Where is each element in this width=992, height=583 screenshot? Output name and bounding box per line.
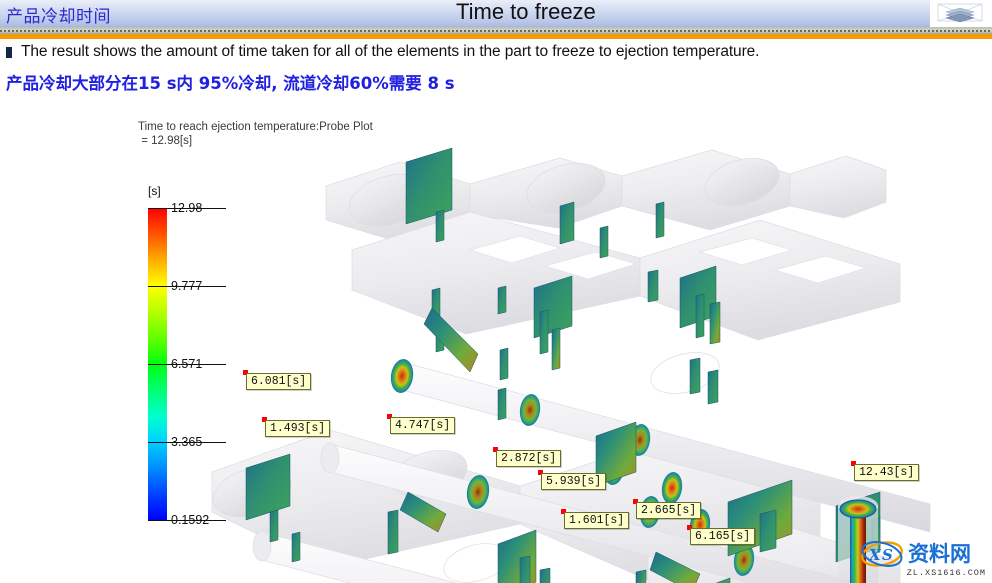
probe-label: 12.43[s]: [854, 464, 919, 481]
probe-label: 6.165[s]: [690, 528, 755, 545]
xs-logo-icon: X S: [860, 541, 904, 567]
watermark-text-cn: 资料网: [908, 543, 971, 565]
colorbar-ticks: 12.98 9.777 6.571 3.365 0.1592: [148, 200, 238, 530]
svg-text:X: X: [868, 546, 882, 564]
subtitle-cn: 产品冷却大部分在15 s内 95%冷却, 流道冷却60%需要 8 s: [6, 70, 455, 94]
probe-label: 2.665[s]: [636, 502, 701, 519]
probe-label: 4.747[s]: [390, 417, 455, 434]
bullet-marker-icon: [6, 47, 12, 58]
colorbar-tick-label: 9.777: [171, 279, 202, 293]
colorbar-unit-label: [s]: [148, 184, 161, 198]
probe-label: 2.872[s]: [496, 450, 561, 467]
watermark: X S 资料网 ZL.XS1616.COM: [860, 541, 986, 579]
header-dotted-rule: [0, 30, 992, 32]
layers-cube-logo-icon: [930, 0, 992, 27]
colorbar-tick-label: 0.1592: [171, 513, 209, 527]
bullet-row: The result shows the amount of time take…: [6, 40, 976, 64]
plot-title-line2: = 12.98[s]: [138, 135, 192, 147]
svg-text:S: S: [882, 546, 893, 564]
probe-label: 5.939[s]: [541, 473, 606, 490]
page-title-en: Time to freeze: [456, 0, 596, 25]
bullet-text: The result shows the amount of time take…: [21, 43, 759, 61]
probe-label: 1.601[s]: [564, 512, 629, 529]
colorbar-tick-label: 12.98: [171, 201, 202, 215]
slide-header: 产品冷却时间 Time to freeze: [0, 0, 992, 27]
colorbar-tick-label: 6.571: [171, 357, 202, 371]
plot-title: Time to reach ejection temperature:Probe…: [138, 120, 373, 148]
probe-label: 6.081[s]: [246, 373, 311, 390]
colorbar-tick-label: 3.365: [171, 435, 202, 449]
simulation-viewport[interactable]: Time to reach ejection temperature:Probe…: [0, 100, 992, 583]
page-title-cn: 产品冷却时间: [6, 2, 111, 27]
probe-label: 1.493[s]: [265, 420, 330, 437]
plot-title-line1: Time to reach ejection temperature:Probe…: [138, 121, 373, 133]
accent-bar: [0, 34, 992, 39]
watermark-url: ZL.XS1616.COM: [860, 568, 986, 578]
